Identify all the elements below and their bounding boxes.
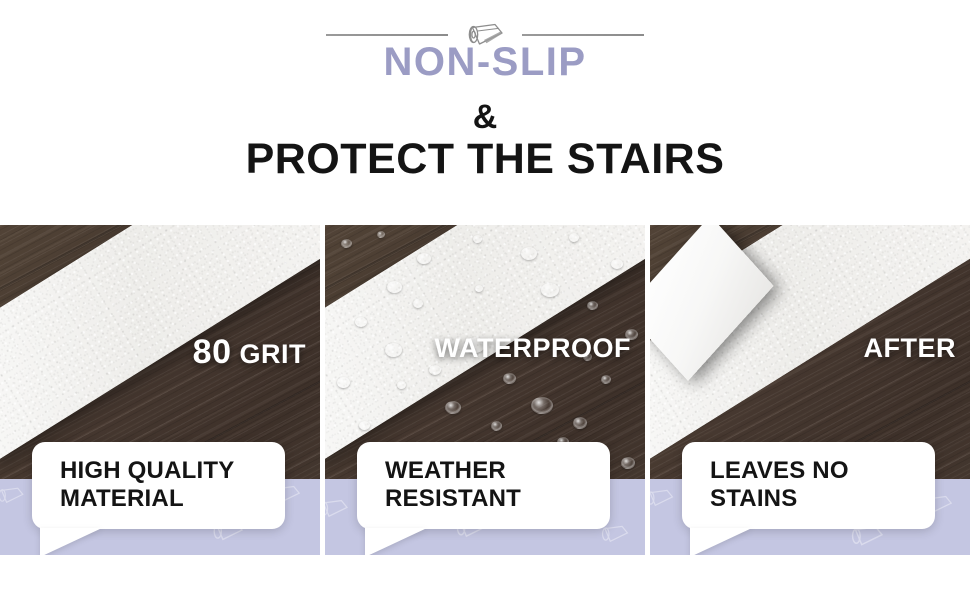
header-section: NON-SLIP & PROTECT THE STAIRS <box>0 0 970 212</box>
divider-line-left <box>326 34 448 36</box>
callout-bubble: WEATHER RESISTANT <box>357 442 610 529</box>
callout-tail <box>690 528 752 555</box>
callout-tail <box>365 528 427 555</box>
overlay-label-after: AFTER <box>864 335 957 362</box>
callout-tail <box>40 528 102 555</box>
overlay-grit-number: 80 <box>193 333 232 371</box>
callout-bubble: LEAVES NO STAINS <box>682 442 935 529</box>
overlay-label-waterproof: WATERPROOF <box>435 335 632 362</box>
divider-line-right <box>522 34 644 36</box>
overlay-label-grit: 80 GRIT <box>193 335 306 369</box>
headline-ampersand: & <box>0 100 970 134</box>
callout-bubble: HIGH QUALITY MATERIAL <box>32 442 285 529</box>
headline-non-slip: NON-SLIP <box>0 42 970 82</box>
overlay-grit-suffix: GRIT <box>240 339 307 369</box>
headline-protect-the-stairs: PROTECT THE STAIRS <box>0 138 970 181</box>
overlay-after-text: AFTER <box>864 333 957 363</box>
callout-text: WEATHER RESISTANT <box>385 457 610 513</box>
feature-panel-high-quality-material: 80 GRIT HIGH QUALITY MATERIAL <box>0 225 320 555</box>
callout-text: LEAVES NO STAINS <box>710 457 935 513</box>
overlay-waterproof-text: WATERPROOF <box>435 333 632 363</box>
callout-text: HIGH QUALITY MATERIAL <box>60 457 285 513</box>
feature-panel-row: 80 GRIT HIGH QUALITY MATERIAL <box>0 225 970 555</box>
feature-panel-leaves-no-stains: AFTER LEAVES NO STAINS <box>650 225 970 555</box>
feature-panel-weather-resistant: WATERPROOF WEATHER RESISTANT <box>325 225 645 555</box>
